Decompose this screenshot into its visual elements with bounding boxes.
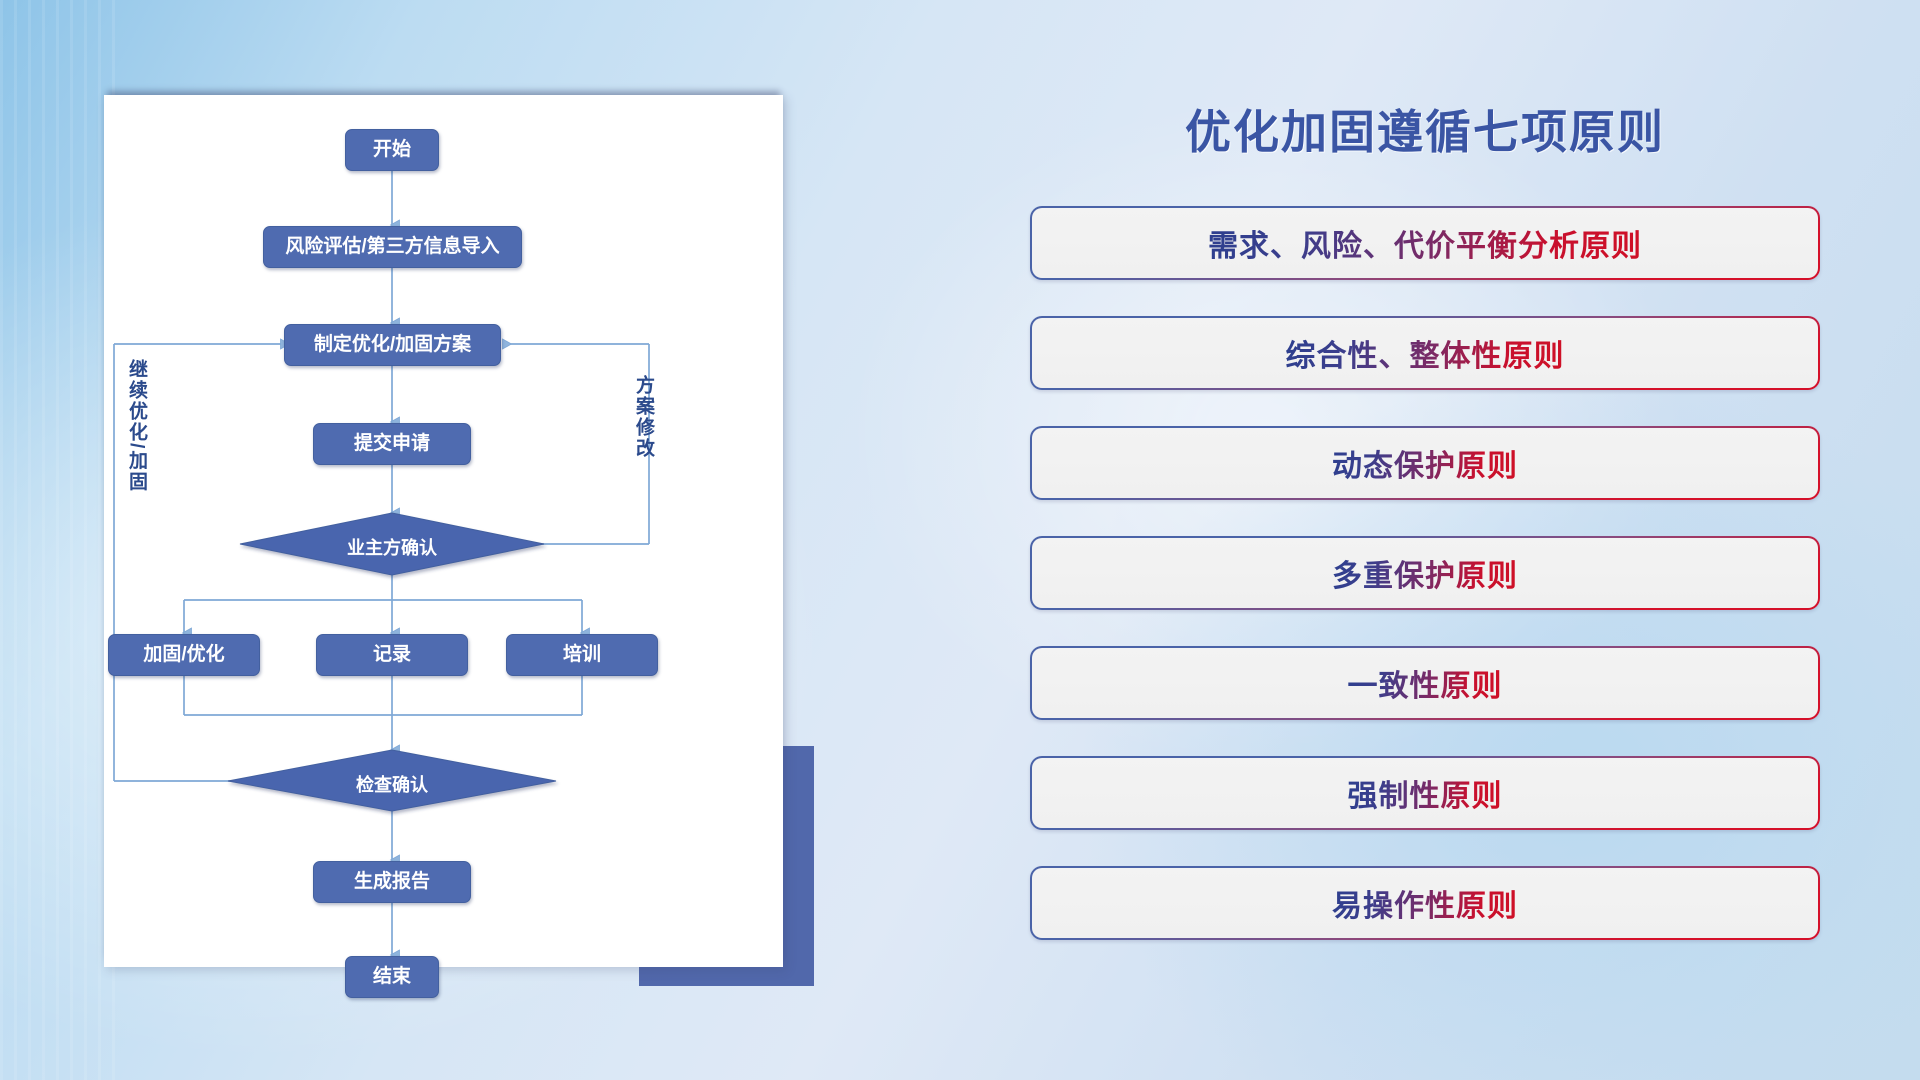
flow-node-make-plan[interactable]: 制定优化/加固方案 <box>284 324 501 366</box>
flow-node-submit-application-label: 提交申请 <box>354 434 430 455</box>
principle-item-5-label: 一致性原则 <box>1348 661 1503 705</box>
flow-node-reinforce-optimize-label: 加固/优化 <box>143 645 224 666</box>
flow-node-training-label: 培训 <box>563 645 601 666</box>
flow-node-record[interactable]: 记录 <box>316 634 468 676</box>
panel-title: 优化加固遵循七项原则 <box>1010 96 1840 162</box>
principle-item-3[interactable]: 动态保护原则 <box>1030 426 1820 500</box>
flow-node-owner-confirm[interactable]: 业主方确认 <box>292 534 492 560</box>
principle-item-1-label: 需求、风险、代价平衡分析原则 <box>1208 221 1642 265</box>
flow-node-owner-confirm-label: 业主方确认 <box>347 538 437 558</box>
principle-item-6[interactable]: 强制性原则 <box>1030 756 1820 830</box>
flow-edge-label-continue-optimize: 继续优化/加固 <box>126 359 146 492</box>
flow-node-training[interactable]: 培训 <box>506 634 658 676</box>
flow-node-make-plan-label: 制定优化/加固方案 <box>314 335 471 356</box>
principle-item-3-label: 动态保护原则 <box>1332 441 1518 485</box>
principle-item-6-label: 强制性原则 <box>1348 771 1503 815</box>
background-light-streaks <box>0 0 120 1080</box>
flow-node-record-label: 记录 <box>373 645 411 666</box>
principle-item-5[interactable]: 一致性原则 <box>1030 646 1820 720</box>
flow-node-check-confirm[interactable]: 检查确认 <box>292 771 492 797</box>
flow-node-reinforce-optimize[interactable]: 加固/优化 <box>108 634 260 676</box>
principle-item-7-label: 易操作性原则 <box>1332 881 1518 925</box>
flow-node-end-label: 结束 <box>373 967 411 988</box>
principles-panel: 优化加固遵循七项原则 需求、风险、代价平衡分析原则 综合性、整体性原则 动态保护… <box>1010 96 1840 1006</box>
principle-item-2-label: 综合性、整体性原则 <box>1286 331 1565 375</box>
principle-item-4[interactable]: 多重保护原则 <box>1030 536 1820 610</box>
flow-node-end[interactable]: 结束 <box>345 956 439 998</box>
flow-node-submit-application[interactable]: 提交申请 <box>313 423 471 465</box>
flow-node-generate-report-label: 生成报告 <box>354 872 430 893</box>
flow-edge-label-plan-revision: 方案修改 <box>633 375 653 459</box>
principle-item-2[interactable]: 综合性、整体性原则 <box>1030 316 1820 390</box>
flow-node-start-label: 开始 <box>373 140 411 161</box>
principle-item-7[interactable]: 易操作性原则 <box>1030 866 1820 940</box>
principle-item-1[interactable]: 需求、风险、代价平衡分析原则 <box>1030 206 1820 280</box>
flow-node-start[interactable]: 开始 <box>345 129 439 171</box>
flow-node-risk-assessment[interactable]: 风险评估/第三方信息导入 <box>263 226 522 268</box>
flow-node-generate-report[interactable]: 生成报告 <box>313 861 471 903</box>
flow-node-risk-assessment-label: 风险评估/第三方信息导入 <box>285 237 499 258</box>
flowchart-card: 开始 风险评估/第三方信息导入 制定优化/加固方案 提交申请 业主方确认 加固/… <box>104 95 783 967</box>
principle-item-4-label: 多重保护原则 <box>1332 551 1518 595</box>
flow-node-check-confirm-label: 检查确认 <box>356 775 428 795</box>
